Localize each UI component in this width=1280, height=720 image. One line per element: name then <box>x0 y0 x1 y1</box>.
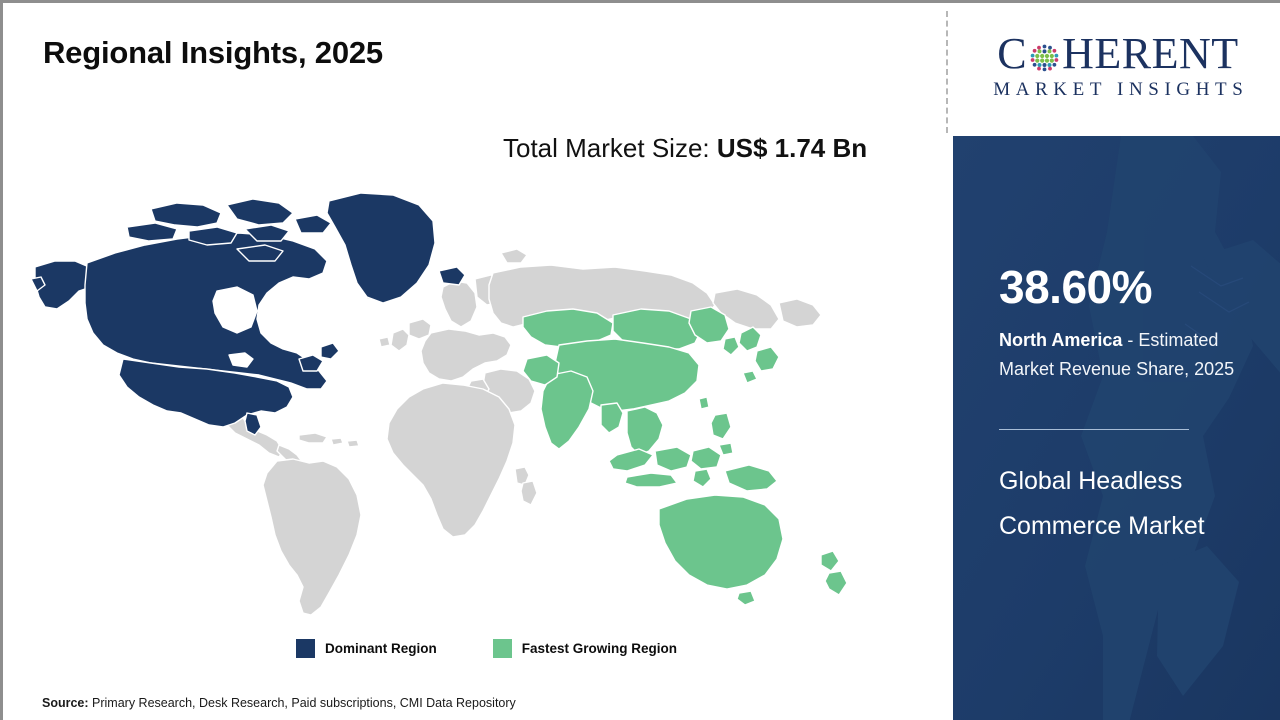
source-value: Primary Research, Desk Research, Paid su… <box>92 696 516 710</box>
logo-word-left: C <box>997 32 1027 76</box>
company-logo: C <box>953 3 1280 136</box>
stat-value: 38.60% <box>999 264 1152 310</box>
logo-word-right: HERENT <box>1062 32 1239 76</box>
stat-description: North America - Estimated Market Revenue… <box>999 326 1265 384</box>
market-title: Global Headless Commerce Market <box>999 459 1249 549</box>
page-title: Regional Insights, 2025 <box>43 35 383 71</box>
stat-region-name: North America <box>999 330 1122 350</box>
legend-label-fastest-growing: Fastest Growing Region <box>522 641 677 656</box>
legend-item-dominant: Dominant Region <box>296 639 437 658</box>
main-content-area: Regional Insights, 2025 Total Market Siz… <box>3 3 947 720</box>
world-map <box>31 183 911 623</box>
panel-content: 38.60% North America - Estimated Market … <box>999 136 1267 720</box>
market-size-label: Total Market Size: <box>503 133 717 163</box>
panel-horizontal-rule <box>999 429 1189 430</box>
source-label: Source: <box>42 696 92 710</box>
map-legend: Dominant Region Fastest Growing Region <box>296 639 677 658</box>
globe-dots-icon <box>1028 41 1061 74</box>
market-size-value: US$ 1.74 Bn <box>717 133 867 163</box>
world-map-svg <box>31 183 911 623</box>
panel-divider-dashed <box>946 11 948 133</box>
source-footnote: Source: Primary Research, Desk Research,… <box>42 696 516 710</box>
side-panel: 38.60% North America - Estimated Market … <box>953 136 1280 720</box>
legend-label-dominant: Dominant Region <box>325 641 437 656</box>
regional-insights-slide: Regional Insights, 2025 Total Market Siz… <box>0 0 1280 720</box>
map-region-asia-pacific <box>523 307 847 605</box>
legend-item-fastest-growing: Fastest Growing Region <box>493 639 677 658</box>
logo-subtitle: MARKET INSIGHTS <box>968 80 1268 99</box>
logo-wordmark: C <box>968 32 1268 76</box>
legend-swatch-dominant <box>296 639 315 658</box>
total-market-size: Total Market Size: US$ 1.74 Bn <box>503 129 885 168</box>
legend-swatch-fastest-growing <box>493 639 512 658</box>
